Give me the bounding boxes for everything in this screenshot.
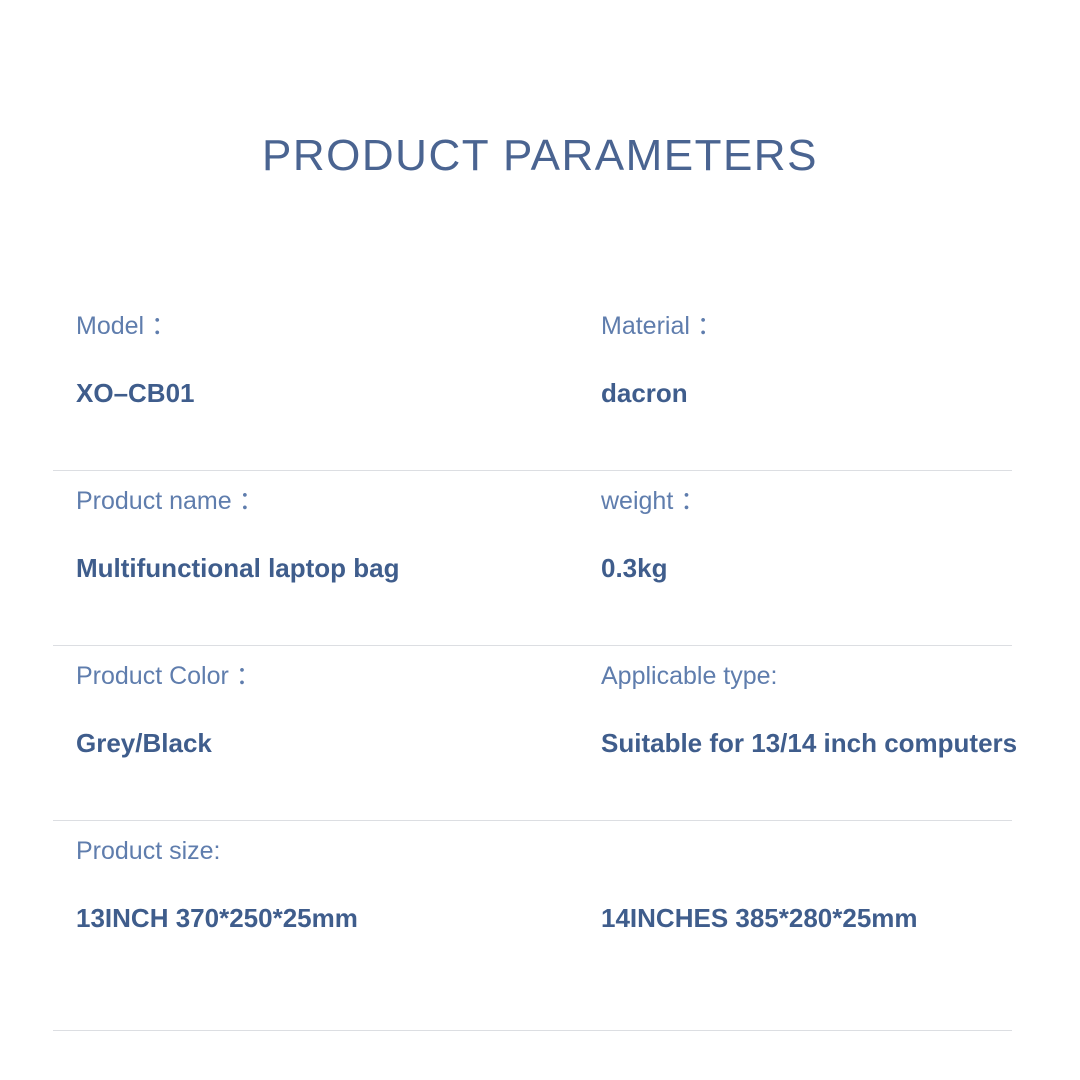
page-title: PRODUCT PARAMETERS [0, 131, 1080, 181]
spec-label: Applicable type: [601, 646, 1012, 689]
spec-row-product-size: Product size: 13INCH 370*250*25mm 14INCH… [53, 821, 1012, 1031]
spec-table: Model ： XO–CB01 Material ： dacron Produc… [53, 296, 1012, 1031]
spec-value: Grey/Black [76, 689, 578, 756]
spec-value: Suitable for 13/14 inch computers [601, 689, 1012, 756]
spec-value-size-13inch: 13INCH 370*250*25mm [53, 905, 578, 931]
spec-cell-model: Model ： XO–CB01 [53, 296, 578, 406]
spec-cell-weight: weight ： 0.3kg [578, 471, 1012, 581]
spec-row: Product Color ： Grey/Black Applicable ty… [53, 646, 1012, 821]
spec-row: Product name ： Multifunctional laptop ba… [53, 471, 1012, 646]
spec-value-size-14inch: 14INCHES 385*280*25mm [578, 905, 1012, 931]
spec-label: Product Color ： [76, 646, 578, 689]
spec-label: weight ： [601, 471, 1012, 514]
spec-cell-product-color: Product Color ： Grey/Black [53, 646, 578, 756]
spec-row: Model ： XO–CB01 Material ： dacron [53, 296, 1012, 471]
spec-value: Multifunctional laptop bag [76, 514, 578, 581]
product-parameters-page: PRODUCT PARAMETERS Model ： XO–CB01 Mater… [0, 0, 1080, 1080]
spec-value: 0.3kg [601, 514, 1012, 581]
spec-label: Product size: [53, 821, 1012, 864]
spec-label: Product name ： [76, 471, 578, 514]
spec-value: XO–CB01 [76, 339, 578, 406]
spec-value: dacron [601, 339, 1012, 406]
spec-cell-material: Material ： dacron [578, 296, 1012, 406]
spec-cell-product-name: Product name ： Multifunctional laptop ba… [53, 471, 578, 581]
spec-cell-applicable-type: Applicable type: Suitable for 13/14 inch… [578, 646, 1012, 756]
spec-label: Material ： [601, 296, 1012, 339]
spec-label: Model ： [76, 296, 578, 339]
